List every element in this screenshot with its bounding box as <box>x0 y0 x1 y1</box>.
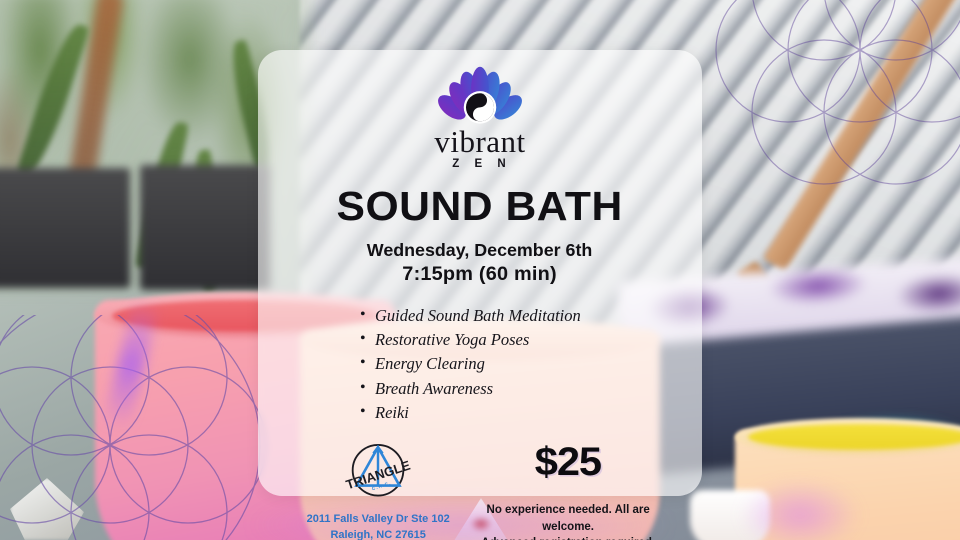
brand-name: vibrant <box>434 127 525 156</box>
note-line-1: No experience needed. All are welcome. <box>466 502 670 535</box>
list-item: Reiki <box>360 401 600 425</box>
flower-of-life-overlay-top <box>660 0 960 230</box>
venue-address: 2011 Falls Valley Dr Ste 102 Raleigh, NC… <box>307 512 450 540</box>
feature-list: Guided Sound Bath Meditation Restorative… <box>360 304 600 425</box>
registration-note: No experience needed. All are welcome. A… <box>466 502 670 540</box>
event-datetime: Wednesday, December 6th 7:15pm (60 min) <box>367 239 593 288</box>
planter-box-right <box>140 165 270 290</box>
venue-block: TRIANGLE C.R.C. 2011 Falls Valley Dr Ste… <box>290 438 466 540</box>
address-line-1: 2011 Falls Valley Dr Ste 102 <box>307 512 450 528</box>
page-title: SOUND BATH <box>337 185 623 228</box>
list-item: Breath Awareness <box>360 377 600 401</box>
yellow-bowl-interior <box>748 424 960 450</box>
price-label: $25 <box>535 442 601 482</box>
price-block: $25 No experience needed. All are welcom… <box>466 438 670 540</box>
event-date: Wednesday, December 6th <box>367 240 593 260</box>
footer-row: TRIANGLE C.R.C. 2011 Falls Valley Dr Ste… <box>284 438 676 540</box>
magenta-light-flare <box>740 480 860 540</box>
event-time: 7:15pm (60 min) <box>367 262 593 288</box>
flyer-card: vibrant Z E N SOUND BATH Wednesday, Dece… <box>258 50 702 496</box>
lotus-yin-yang-icon <box>435 66 525 128</box>
list-item: Energy Clearing <box>360 352 600 376</box>
planter-box-left <box>0 168 130 288</box>
list-item: Restorative Yoga Poses <box>360 328 600 352</box>
triangle-logo: TRIANGLE C.R.C. <box>339 438 417 504</box>
address-line-2: Raleigh, NC 27615 <box>307 528 450 540</box>
note-line-2: Advanced registration required. <box>466 535 670 540</box>
brand-subtitle: Z E N <box>452 158 511 170</box>
list-item: Guided Sound Bath Meditation <box>360 304 600 328</box>
brand-logo: vibrant Z E N <box>434 66 525 170</box>
